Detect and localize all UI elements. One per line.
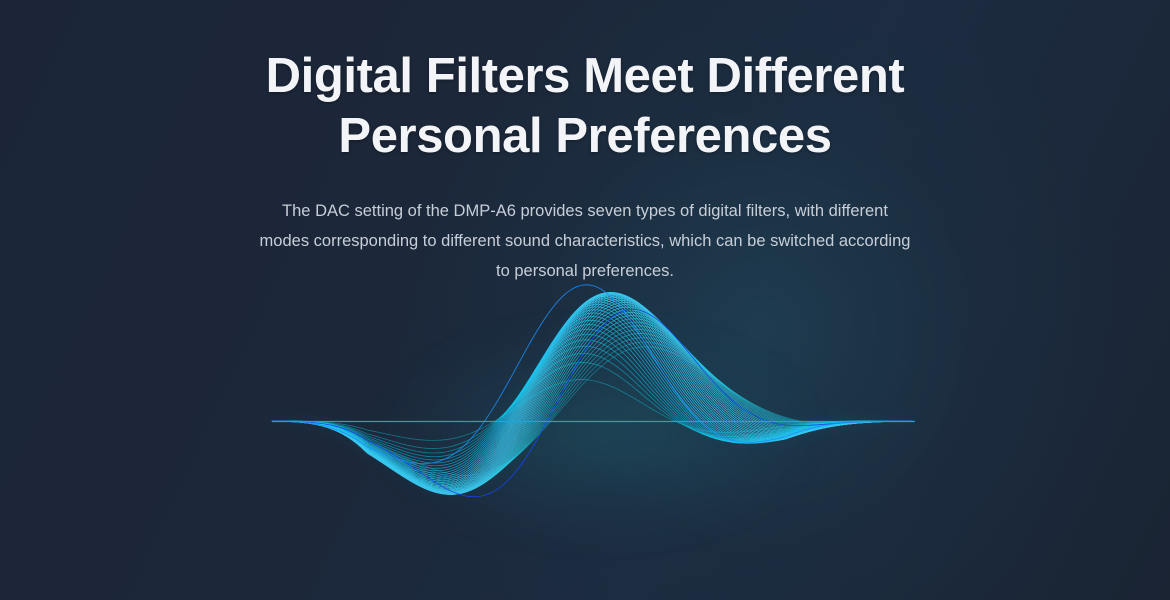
page-subtitle-line-3: to personal preferences. (190, 256, 980, 286)
wave-line (272, 380, 912, 441)
wave-line (272, 298, 912, 486)
wave-line (272, 319, 912, 489)
wave-line (272, 292, 912, 492)
wave-line (272, 304, 912, 481)
page-title-line-2: Personal Preferences (0, 106, 1170, 166)
wave-line (272, 293, 912, 494)
hero-banner: Digital Filters Meet Different Personal … (0, 0, 1170, 600)
wave-glow-line (272, 293, 912, 494)
wave-line (272, 293, 912, 490)
wave-line (272, 346, 912, 457)
wave-line (272, 293, 912, 494)
wave-line (272, 305, 912, 493)
wave-line (272, 296, 912, 495)
wave-line (272, 342, 912, 478)
wave-line (272, 297, 912, 494)
wave-glow-line (272, 346, 912, 457)
page-subtitle-line-1: The DAC setting of the DMP-A6 provides s… (190, 196, 980, 226)
wave-line (272, 310, 912, 492)
wave-line (272, 326, 912, 486)
wave-line (272, 316, 912, 490)
wave-line (272, 293, 912, 492)
wave-line (272, 338, 912, 481)
wave-line-family (272, 285, 912, 497)
wave-glow-layer (272, 293, 912, 494)
page-title: Digital Filters Meet Different Personal … (0, 0, 1170, 166)
hero-text-block: Digital Filters Meet Different Personal … (0, 0, 1170, 286)
wave-accent-line (272, 309, 912, 496)
page-subtitle-line-2: modes corresponding to different sound c… (190, 226, 980, 256)
wave-line (272, 333, 912, 482)
page-subtitle: The DAC setting of the DMP-A6 provides s… (190, 166, 980, 286)
page-title-line-1: Digital Filters Meet Different (0, 46, 1170, 106)
wave-line (272, 293, 912, 491)
